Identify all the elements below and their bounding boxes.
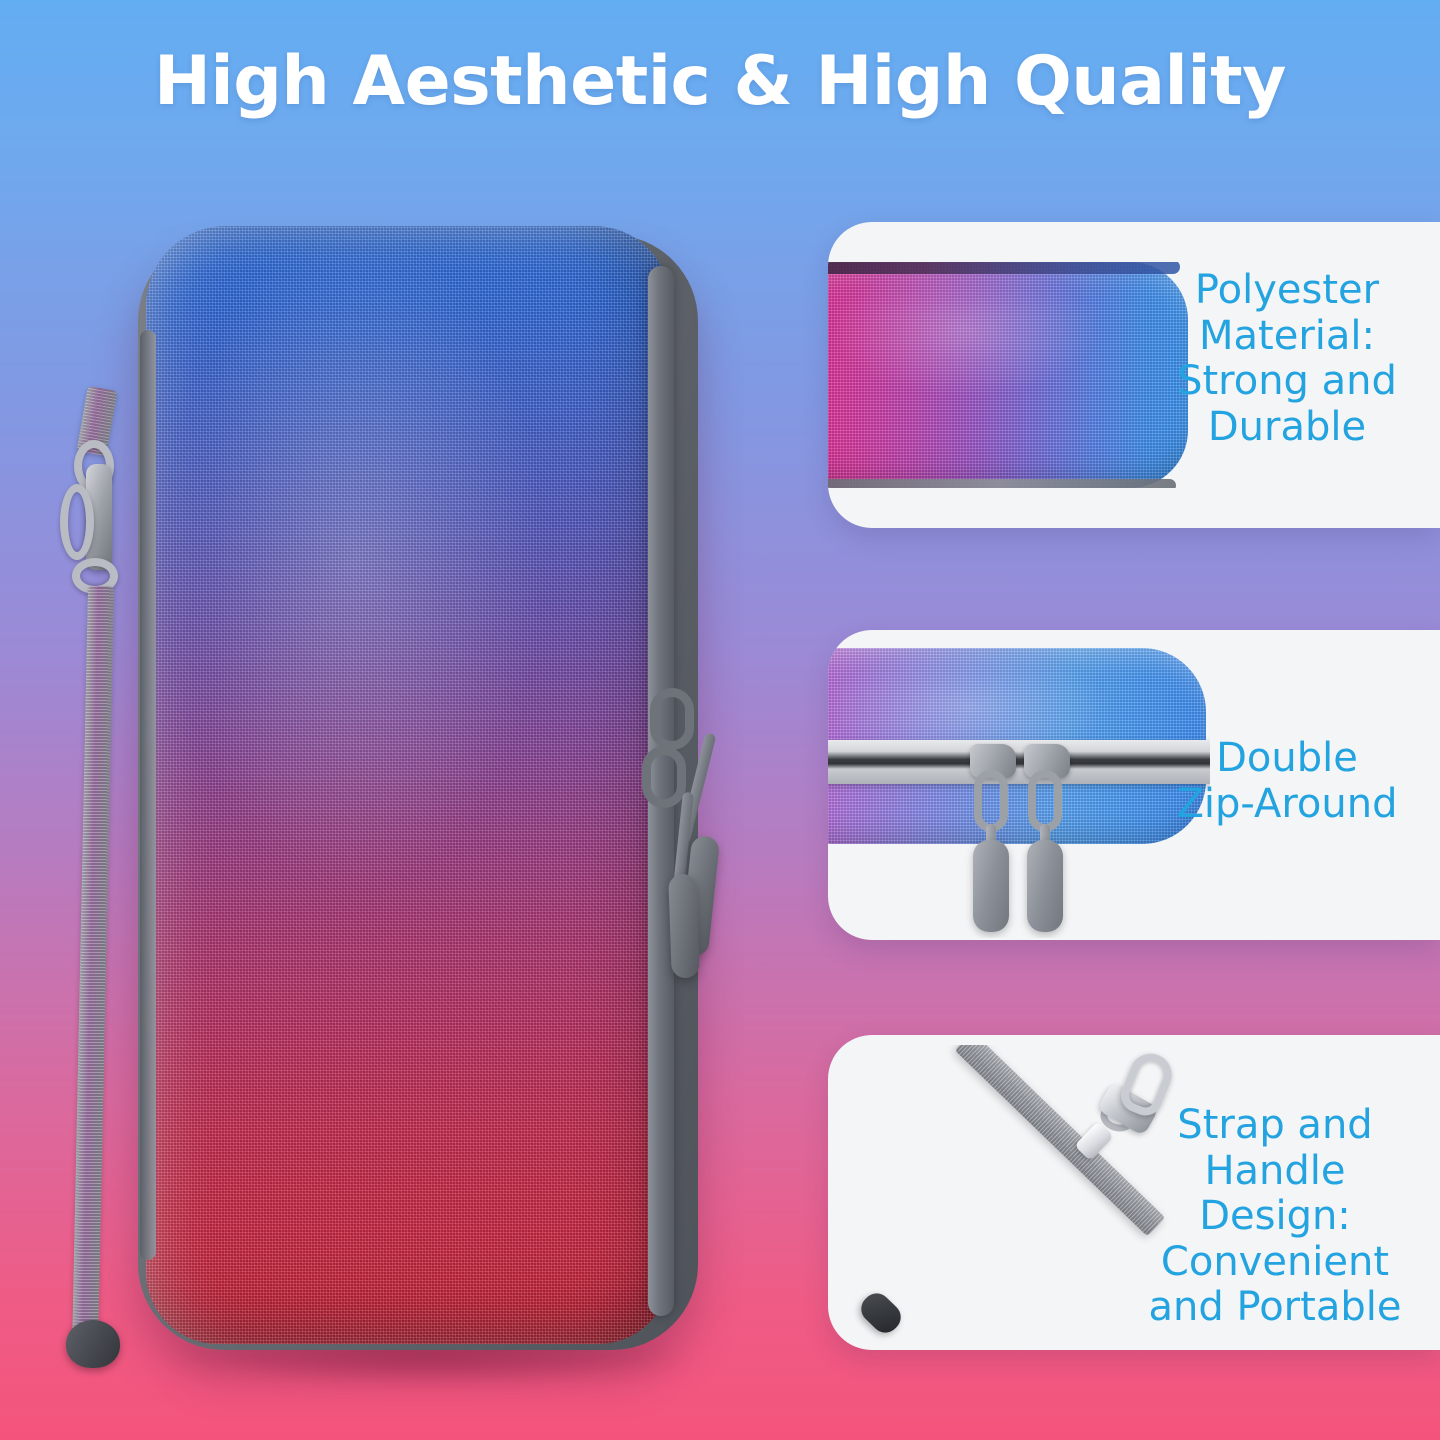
- zipper-pull-tab-left: [973, 840, 1009, 932]
- material-swatch-case: [828, 262, 1188, 488]
- strap-end-cap: [855, 1288, 906, 1339]
- material-label-line-1: Polyester: [1162, 268, 1412, 314]
- zipper-tab-front: [668, 874, 700, 979]
- strap-label-line-3: Convenient: [1130, 1240, 1420, 1286]
- material-label-line-4: Durable: [1162, 405, 1412, 451]
- swatch-base-seam: [828, 479, 1176, 488]
- swatch-lid-seam: [828, 262, 1180, 274]
- page-title: High Aesthetic & High Quality: [0, 46, 1440, 117]
- hero-product-image: [0, 180, 820, 1440]
- zipper-track: [828, 740, 1210, 784]
- carabiner-gate: [60, 484, 94, 560]
- polyester-material-closeup: [828, 262, 1188, 488]
- material-label-line-2: Material:: [1162, 314, 1412, 360]
- feature-card-material: Polyester Material: Strong and Durable: [828, 222, 1440, 528]
- zipper-loop-back: [650, 688, 694, 750]
- feature-card-strap-label: Strap and Handle Design: Convenient and …: [1130, 1103, 1420, 1331]
- double-zipper-closeup: [828, 648, 1210, 938]
- zipper-cord-loop-right: [1028, 770, 1062, 832]
- strap-end-toggle: [66, 1320, 120, 1368]
- case-front-shell: [146, 226, 670, 1344]
- feature-card-material-label: Polyester Material: Strong and Durable: [1162, 268, 1412, 450]
- zipper-label-line-2: Zip-Around: [1162, 782, 1412, 828]
- zipper-pull-tab-right: [1027, 840, 1063, 932]
- swatch-sheen: [828, 262, 1188, 488]
- feature-card-zipper: Double Zip-Around: [828, 630, 1440, 940]
- wrist-strap: [38, 400, 208, 1390]
- strap-webbing: [72, 586, 114, 1346]
- case-sheen: [146, 226, 670, 1344]
- zipper-loop-front: [642, 746, 686, 808]
- strap-label-line-2: Handle Design:: [1130, 1149, 1420, 1240]
- material-label-line-3: Strong and: [1162, 359, 1412, 405]
- zipper-label-line-1: Double: [1162, 736, 1412, 782]
- double-zipper-pulls: [636, 688, 766, 988]
- strap-label-line-1: Strap and: [1130, 1103, 1420, 1149]
- infographic-canvas: High Aesthetic & High Quality: [0, 0, 1440, 1440]
- zipper-cord-loop-left: [974, 770, 1008, 832]
- feature-card-zipper-label: Double Zip-Around: [1162, 736, 1412, 827]
- strap-label-line-4: and Portable: [1130, 1285, 1420, 1331]
- feature-card-strap: Strap and Handle Design: Convenient and …: [828, 1035, 1440, 1350]
